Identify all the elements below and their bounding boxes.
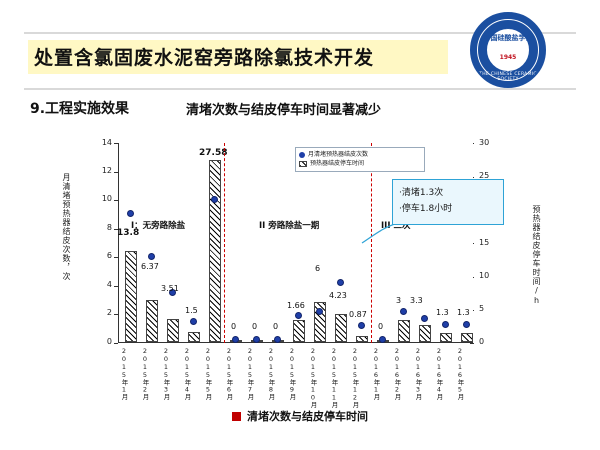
bar-2015-01 — [125, 251, 137, 342]
legend-bar-icon — [299, 161, 307, 167]
point-2015-12 — [358, 322, 365, 329]
y-tick-left-12: 12 — [90, 166, 112, 175]
chart-container: 月清堵预热器结皮次数，次 预热器结皮停车时间/h 0 2 4 6 8 10 12… — [60, 125, 550, 395]
legend-label-bars: 预热器结皮停车时间 — [310, 160, 364, 168]
y-tick-left-0: 0 — [90, 337, 112, 346]
plot-area: 13.8 6.37 3.51 1.5 27.58 0 0 0 1.66 6 4.… — [118, 143, 473, 343]
region-label-2: II 旁路除盐一期 — [259, 219, 319, 231]
label-1-5: 1.5 — [185, 306, 198, 315]
bar-2016-03 — [419, 325, 431, 342]
x-tick-15: 2016年4月 — [435, 347, 442, 400]
label-1-66: 1.66 — [287, 301, 305, 310]
x-tick-9: 2015年10月 — [309, 347, 316, 408]
legend-point-icon — [299, 152, 305, 158]
label-0-87: 0.87 — [349, 310, 367, 319]
x-tick-4: 2015年5月 — [204, 347, 211, 400]
point-2016-01 — [379, 336, 386, 343]
label-4-23: 4.23 — [329, 291, 347, 300]
label-1-3-a: 1.3 — [436, 308, 449, 317]
label-1-3-b: 1.3 — [457, 308, 470, 317]
label-3-51: 3.51 — [161, 284, 179, 293]
label-0-jul: 0 — [252, 322, 257, 331]
marker-phase-1 — [224, 143, 225, 343]
chart-legend: 月清堵预热器结皮次数 预热器结皮停车时间 — [295, 147, 425, 172]
organization-logo: 中国硅酸盐学会 1945 THE CHINESE CERAMIC SOCIETY — [470, 12, 546, 88]
label-3-3: 3.3 — [410, 296, 423, 305]
x-tick-8: 2015年9月 — [288, 347, 295, 400]
y-tick-right-30: 30 — [479, 138, 501, 147]
point-2016-02 — [400, 308, 407, 315]
x-tick-12: 2016年1月 — [372, 347, 379, 400]
y-tick-left-4: 4 — [90, 280, 112, 289]
x-tick-10: 2015年11月 — [330, 347, 337, 408]
label-6-37: 6.37 — [141, 262, 159, 271]
x-tick-6: 2015年7月 — [246, 347, 253, 400]
region-label-1: I：无旁路除盐 — [131, 219, 185, 231]
logo-english-text: THE CHINESE CERAMIC SOCIETY — [472, 72, 544, 82]
logo-chinese-text: 中国硅酸盐学会 — [472, 34, 544, 42]
y-tick-left-6: 6 — [90, 251, 112, 260]
bar-2016-05 — [461, 333, 473, 342]
y-tick-left-10: 10 — [90, 194, 112, 203]
point-2015-09 — [295, 312, 302, 319]
bar-2015-04 — [188, 332, 200, 342]
y-tick-left-14: 14 — [90, 138, 112, 147]
y-tick-right-0: 0 — [479, 337, 501, 346]
tick-right-0 — [470, 343, 474, 344]
x-tick-16: 2016年5月 — [456, 347, 463, 400]
bar-2015-05 — [209, 160, 221, 342]
section-number: 9.工程实施效果 — [30, 98, 129, 118]
y-tick-right-10: 10 — [479, 271, 501, 280]
label-0-aug: 0 — [273, 322, 278, 331]
label-0-jan: 0 — [378, 322, 383, 331]
point-2015-10 — [316, 308, 323, 315]
bar-2015-03 — [167, 319, 179, 342]
footer-legend: 清堵次数与结皮停车时间 — [0, 408, 600, 424]
point-2016-05 — [463, 321, 470, 328]
section-subtitle: 清堵次数与结皮停车时间显著减少 — [186, 99, 381, 118]
point-2015-06 — [232, 336, 239, 343]
callout-line-2: ·停车1.8小时 — [399, 201, 497, 217]
point-2015-11 — [337, 279, 344, 286]
point-2015-01 — [127, 210, 134, 217]
callout-line-1: ·清堵1.3次 — [399, 185, 497, 201]
point-2016-04 — [442, 321, 449, 328]
legend-label-points: 月清堵预热器结皮次数 — [308, 151, 368, 159]
x-tick-13: 2016年2月 — [393, 347, 400, 400]
label-0-jun: 0 — [231, 322, 236, 331]
logo-year: 1945 — [472, 54, 544, 61]
legend-item-points: 月清堵预热器结皮次数 — [299, 151, 421, 159]
label-3: 3 — [396, 296, 401, 305]
point-2015-04 — [190, 318, 197, 325]
footer-legend-swatch — [232, 412, 241, 421]
y-tick-left-8: 8 — [90, 223, 112, 232]
title-divider-bottom — [24, 88, 576, 90]
x-tick-1: 2015年2月 — [141, 347, 148, 400]
x-tick-2: 2015年3月 — [162, 347, 169, 400]
point-2015-05 — [211, 196, 218, 203]
point-2015-07 — [253, 336, 260, 343]
label-6: 6 — [315, 264, 320, 273]
x-tick-0: 2015年1月 — [120, 347, 127, 400]
point-2015-08 — [274, 336, 281, 343]
bar-2016-04 — [440, 333, 452, 342]
page-title: 处置含氯固废水泥窑旁路除氯技术开发 — [34, 45, 454, 71]
y-tick-left-2: 2 — [90, 308, 112, 317]
legend-item-bars: 预热器结皮停车时间 — [299, 160, 421, 168]
x-tick-7: 2015年8月 — [267, 347, 274, 400]
bar-2015-12 — [356, 336, 368, 342]
x-tick-11: 2015年12月 — [351, 347, 358, 408]
y-tick-right-15: 15 — [479, 238, 501, 247]
x-tick-3: 2015年4月 — [183, 347, 190, 400]
bar-2016-02 — [398, 320, 410, 342]
x-tick-14: 2016年3月 — [414, 347, 421, 400]
tick-left-0 — [114, 343, 118, 344]
slide-canvas: 处置含氯固废水泥窑旁路除氯技术开发 9.工程实施效果 清堵次数与结皮停车时间显著… — [0, 0, 600, 450]
point-2015-02 — [148, 253, 155, 260]
y-axis-right-label: 预热器结皮停车时间/h — [526, 205, 542, 306]
bar-2015-02 — [146, 300, 158, 342]
x-tick-5: 2015年6月 — [225, 347, 232, 400]
y-axis-left-label: 月清堵预热器结皮次数，次 — [56, 173, 72, 281]
bar-2015-09 — [293, 320, 305, 342]
y-tick-right-5: 5 — [479, 304, 501, 313]
footer-legend-label: 清堵次数与结皮停车时间 — [247, 410, 368, 423]
callout-box: ·清堵1.3次 ·停车1.8小时 — [392, 179, 504, 225]
bar-2015-11 — [335, 314, 347, 342]
point-2016-03 — [421, 315, 428, 322]
